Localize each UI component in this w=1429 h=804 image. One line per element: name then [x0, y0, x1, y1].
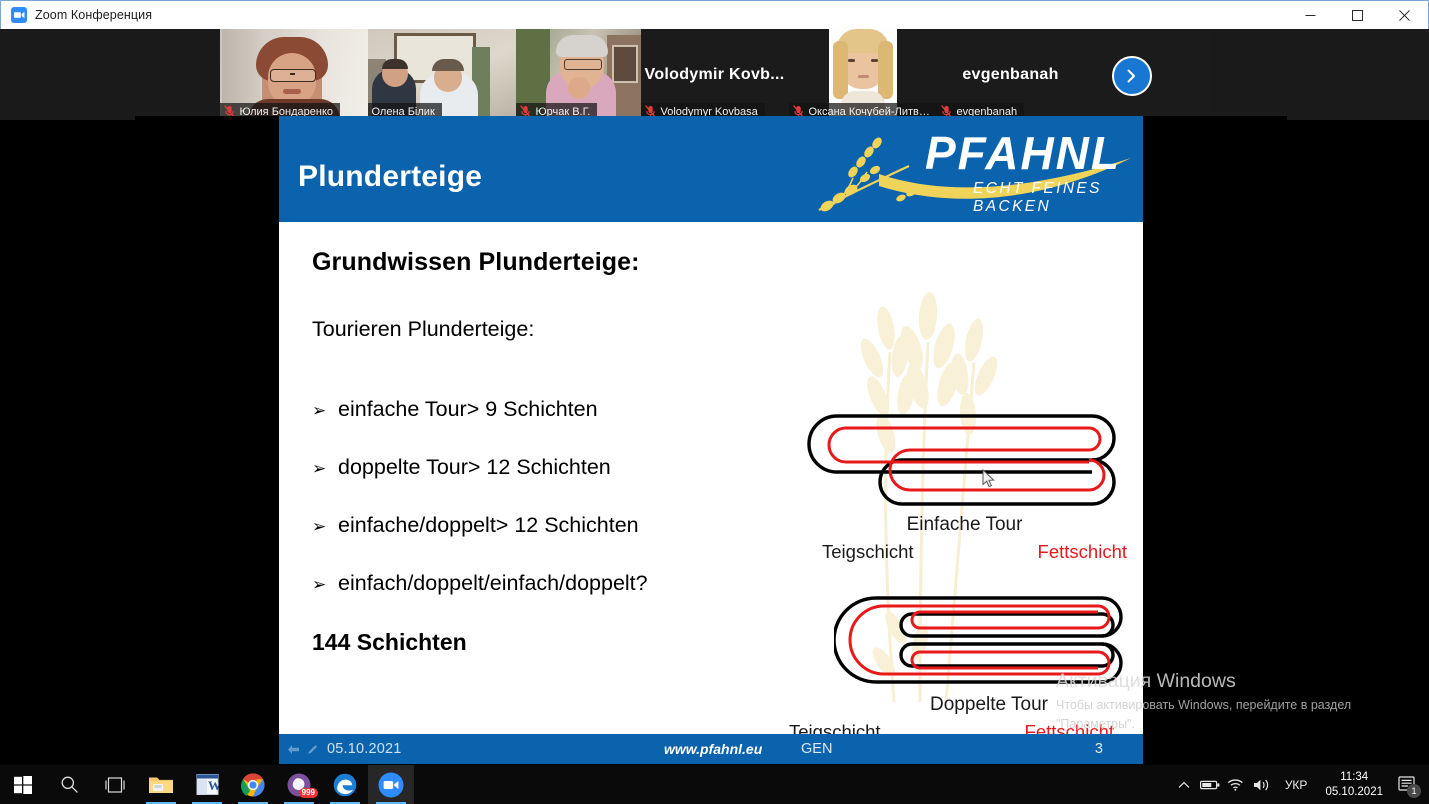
bullet-arrow-icon: ➢ — [312, 517, 338, 537]
clock-time: 11:34 — [1325, 770, 1383, 785]
participant-filmstrip: Юлия Бондаренко Олена Білик — [0, 29, 1429, 120]
zoom-camera-icon — [11, 7, 27, 23]
bullet-item: ➢ doppelte Tour> 12 Schichten — [312, 455, 742, 480]
presentation-slide: Plunderteige — [279, 116, 1143, 764]
chrome-icon — [241, 773, 265, 797]
legend-dough-label: Teigschicht — [789, 721, 881, 734]
bullet-text: einfache/doppelt> 12 Schichten — [338, 513, 639, 538]
window-title: Zoom Конференция — [35, 8, 152, 22]
diagram-caption: Doppelte Tour — [834, 694, 1143, 716]
filmstrip-next-container — [1085, 29, 1210, 120]
pen-icon[interactable] — [306, 743, 319, 756]
word-button[interactable]: W — [184, 765, 230, 804]
search-icon — [60, 775, 79, 794]
volume-icon[interactable] — [1249, 765, 1275, 804]
bullet-text: einfach/doppelt/einfach/doppelt? — [338, 571, 648, 596]
slide-header: Plunderteige — [279, 116, 1143, 222]
back-arrow-icon[interactable] — [287, 744, 300, 755]
battery-icon[interactable] — [1197, 765, 1223, 804]
total-layers-text: 144 Schichten — [312, 629, 467, 656]
close-icon[interactable] — [1381, 1, 1428, 29]
chevron-right-icon[interactable] — [1112, 56, 1152, 96]
diagram-legend: Teigschicht Fettschicht — [789, 721, 1114, 734]
diagram-einfache-tour: Einfache Tour Teigschicht Fettschicht — [792, 406, 1137, 551]
legend-fat-label: Fettschicht — [1025, 721, 1114, 734]
file-explorer-button[interactable] — [138, 765, 184, 804]
clock[interactable]: 11:34 05.10.2021 — [1317, 770, 1391, 800]
bullet-list: ➢ einfache Tour> 9 Schichten ➢ doppelte … — [312, 397, 742, 629]
notification-icon[interactable]: 1 — [1391, 765, 1423, 804]
titlebar-left-group: Zoom Конференция — [1, 1, 1287, 29]
shared-screen-stage: Plunderteige — [135, 116, 1287, 764]
window-titlebar: Zoom Конференция — [0, 0, 1429, 29]
participant-tile[interactable]: Олена Білик — [368, 29, 516, 120]
mouse-cursor — [982, 469, 996, 488]
bullet-item: ➢ einfach/doppelt/einfach/doppelt? — [312, 571, 742, 596]
participant-tile[interactable]: Юлия Бондаренко — [220, 29, 368, 120]
participant-tile[interactable]: Юрчак В.Г. — [516, 29, 641, 120]
footer-code: GEN — [801, 741, 832, 757]
participant-tile[interactable]: Volodymir Kovb... Volodymyr Kovbasa — [641, 29, 789, 120]
double-fold-illustration — [834, 592, 1143, 692]
single-fold-illustration — [792, 406, 1137, 512]
legend-dough-label: Teigschicht — [822, 541, 914, 563]
chevron-up-icon[interactable] — [1171, 765, 1197, 804]
slide-heading: Grundwissen Plunderteige: — [312, 248, 640, 277]
footer-page-number: 3 — [1095, 741, 1103, 757]
slide-subheading: Tourieren Plunderteige: — [312, 317, 534, 342]
footer-date: 05.10.2021 — [319, 741, 402, 757]
zoom-button[interactable] — [368, 765, 414, 804]
diagram-legend: Teigschicht Fettschicht — [792, 541, 1137, 563]
chrome-button[interactable] — [230, 765, 276, 804]
brand-tagline: ECHT FEINES BACKEN — [973, 180, 1139, 216]
bullet-arrow-icon: ➢ — [312, 575, 338, 595]
zoom-camera-icon — [378, 772, 404, 798]
bullet-arrow-icon: ➢ — [312, 401, 338, 421]
windows-taskbar: W 999 УКР — [0, 765, 1429, 804]
legend-fat-label: Fettschicht — [1038, 541, 1127, 563]
bullet-text: einfache Tour> 9 Schichten — [338, 397, 598, 422]
edge-button[interactable] — [322, 765, 368, 804]
viber-badge: 999 — [299, 788, 318, 798]
footer-icon-group — [279, 743, 319, 756]
diagram-caption: Einfache Tour — [792, 514, 1137, 536]
viber-button[interactable]: 999 — [276, 765, 322, 804]
zoom-application-window: Zoom Конференция — [0, 0, 1429, 804]
bullet-item: ➢ einfache Tour> 9 Schichten — [312, 397, 742, 422]
edge-icon — [333, 773, 357, 797]
folder-icon — [148, 774, 174, 795]
system-tray: УКР 11:34 05.10.2021 1 — [1171, 765, 1429, 804]
footer-url: www.pfahnl.eu — [664, 741, 762, 757]
slide-title: Plunderteige — [298, 160, 482, 194]
minimize-icon[interactable] — [1287, 1, 1334, 29]
slide-body: Grundwissen Plunderteige: Tourieren Plun… — [279, 222, 1143, 734]
bullet-arrow-icon: ➢ — [312, 459, 338, 479]
search-button[interactable] — [46, 765, 92, 804]
brand-wordmark: PFAHNL — [925, 130, 1121, 176]
task-view-button[interactable] — [92, 765, 138, 804]
word-icon: W — [196, 773, 219, 796]
maximize-icon[interactable] — [1334, 1, 1381, 29]
start-button[interactable] — [0, 765, 46, 804]
task-view-icon — [104, 777, 126, 793]
clock-date: 05.10.2021 — [1325, 785, 1383, 800]
wifi-icon[interactable] — [1223, 765, 1249, 804]
bullet-text: doppelte Tour> 12 Schichten — [338, 455, 611, 480]
diagram-doppelte-tour: Doppelte Tour Teigschicht Fettschicht — [834, 592, 1143, 717]
svg-text:W: W — [208, 778, 219, 793]
language-indicator[interactable]: УКР — [1275, 778, 1318, 792]
notification-badge: 1 — [1407, 784, 1421, 798]
participant-tile[interactable]: Оксана Кочубей-Литв… — [789, 29, 937, 120]
slide-footer: 05.10.2021 www.pfahnl.eu GEN 3 — [279, 734, 1143, 764]
pfahnl-logo: PFAHNL ECHT FEINES BACKEN — [809, 122, 1139, 218]
participant-tile[interactable]: evgenbanah evgenbanah — [937, 29, 1085, 120]
window-controls — [1287, 1, 1428, 29]
windows-logo-icon — [14, 776, 32, 794]
bullet-item: ➢ einfache/doppelt> 12 Schichten — [312, 513, 742, 538]
